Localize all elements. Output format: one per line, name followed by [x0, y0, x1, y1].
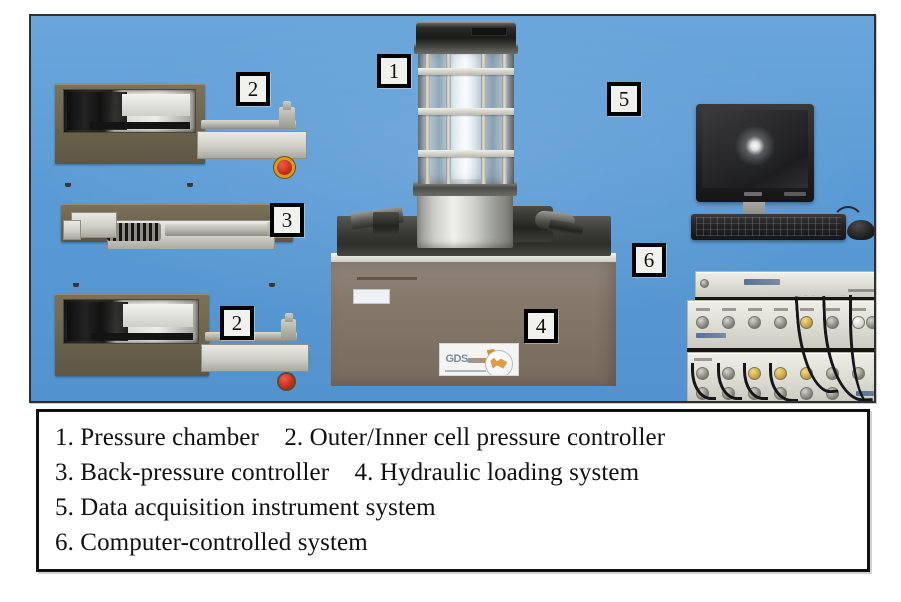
back-pressure-controller	[61, 204, 301, 286]
callout-1: 1	[377, 54, 411, 88]
gds-logo-tagline	[445, 370, 486, 372]
controller-foot	[269, 283, 275, 287]
keyboard[interactable]	[691, 214, 846, 240]
controller-ram-plinth	[201, 344, 309, 372]
callout-2-top: 2	[236, 72, 270, 106]
pressure-chamber	[418, 50, 514, 184]
controller-internal-cylinder	[123, 304, 193, 326]
gds-logo: GDS	[439, 343, 519, 376]
monitor-screen	[702, 110, 808, 188]
controller-ram-head	[281, 319, 296, 339]
chamber-cap-label	[471, 27, 507, 36]
monitor-brand-logo	[744, 192, 762, 196]
daq-connector[interactable]	[774, 316, 787, 329]
callout-5: 5	[607, 82, 641, 116]
monitor	[696, 104, 814, 202]
controller-internal-rail	[90, 122, 190, 129]
controller-ram-head	[279, 107, 295, 127]
daq-top-text	[848, 289, 876, 292]
base-id-label	[353, 289, 390, 304]
legend-line-4: 6. Computer-controlled system	[55, 525, 853, 560]
hydraulic-loading-system: GDS	[331, 261, 616, 386]
equipment-photo: GDS	[29, 14, 876, 403]
controller-ram-tip	[285, 313, 293, 322]
globe-icon	[485, 350, 513, 376]
daq-connector[interactable]	[696, 316, 709, 329]
daq-connector[interactable]	[722, 316, 735, 329]
daq-port-caption	[748, 308, 762, 311]
callout-4: 4	[524, 309, 558, 343]
daq-status-led	[874, 375, 876, 384]
daq-bottom-text	[694, 358, 712, 361]
triaxial-cell-assembly: GDS	[321, 16, 621, 401]
gds-logo-text: GDS	[445, 353, 467, 365]
daq-top-brand-logo	[744, 279, 780, 285]
legend-line-1: 1. Pressure chamber 2. Outer/Inner cell …	[55, 420, 853, 455]
controller-ram-tip	[283, 101, 291, 110]
chamber-lower-flange	[413, 182, 517, 196]
mouse[interactable]	[847, 220, 875, 240]
daq-connector[interactable]	[748, 316, 761, 329]
daq-port-caption	[722, 308, 736, 311]
controller-viewing-window	[63, 89, 196, 133]
computer-controlled-system	[671, 104, 876, 204]
controller-internal-rail	[91, 333, 193, 340]
controller-housing	[55, 84, 205, 164]
emergency-stop-button[interactable]	[279, 374, 294, 389]
base-printed-text	[357, 277, 417, 280]
back-pressure-piston-rod	[165, 224, 269, 236]
callout-6: 6	[632, 243, 666, 277]
data-acquisition-instrument-system	[681, 271, 876, 401]
callout-2-bottom: 2	[220, 306, 254, 340]
controller-internal-cylinder	[122, 94, 190, 116]
chamber-band	[418, 150, 514, 157]
legend-line-3: 5. Data acquisition instrument system	[55, 490, 853, 525]
figure-root: GDS	[0, 0, 901, 602]
chamber-band	[418, 68, 514, 75]
inner-cell-pressure-controller	[55, 294, 307, 398]
controller-foot	[65, 183, 71, 187]
controller-foot	[187, 183, 193, 187]
legend-line-2: 3. Back-pressure controller 4. Hydraulic…	[55, 455, 853, 490]
legend-box: 1. Pressure chamber 2. Outer/Inner cell …	[36, 409, 870, 572]
back-pressure-end-cap	[63, 220, 81, 240]
controller-ram-plinth	[197, 131, 307, 159]
monitor-control-buttons[interactable]	[784, 192, 806, 196]
daq-brand-logo	[696, 333, 726, 338]
controller-housing	[55, 294, 209, 376]
controller-viewing-window	[63, 299, 199, 344]
daq-top-port[interactable]	[700, 279, 709, 288]
chamber-band	[418, 108, 514, 115]
daq-port-caption	[696, 308, 710, 311]
chamber-top-cap	[416, 22, 516, 48]
daq-connector[interactable]	[800, 387, 813, 400]
valve-fitting-left-body	[373, 212, 399, 236]
daq-port-caption	[774, 308, 788, 311]
chamber-base-drum	[417, 192, 513, 248]
callout-3: 3	[270, 203, 304, 237]
controller-foot	[73, 283, 79, 287]
emergency-stop-button[interactable]	[277, 160, 292, 175]
keyboard-keys[interactable]	[696, 217, 841, 236]
